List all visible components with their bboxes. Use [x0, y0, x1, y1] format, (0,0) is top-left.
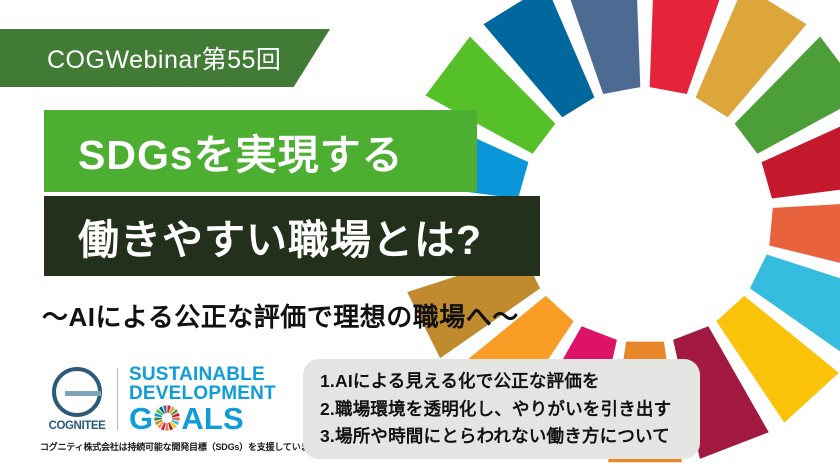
- title-block-secondary: 働きやすい職場とは?: [44, 196, 540, 276]
- sdg-color-wheel-icon-small: [154, 405, 180, 431]
- sdg-wordmark-als: ALS: [181, 403, 244, 434]
- page-title-line-1: SDGsを実現する: [78, 121, 404, 181]
- agenda-item: 3.場所や時間にとらわれない働き方について: [320, 423, 700, 451]
- logo-lockup: COGNITEE SUSTAINABLE DEVELOPMENT G ALS コ…: [40, 363, 295, 453]
- webinar-series-ribbon: COGWebinar第55回: [0, 29, 330, 87]
- sdg-wordmark: SUSTAINABLE DEVELOPMENT G ALS: [129, 365, 276, 434]
- webinar-series-label: COGWebinar第55回: [47, 40, 281, 76]
- sdg-wordmark-line-3: G ALS: [129, 403, 276, 434]
- logo-row: COGNITEE SUSTAINABLE DEVELOPMENT G ALS: [40, 363, 295, 435]
- sdg-wheel-segment: [166, 423, 169, 430]
- page-subtitle: 〜AIによる公正な評価で理想の職場へ〜: [42, 297, 519, 334]
- sdg-support-caption: コグニティ株式会社は持続可能な開発目標（SDGs）を支援しています。: [40, 440, 295, 453]
- sdg-wordmark-line-1: SUSTAINABLE: [129, 365, 276, 384]
- agenda-box: 1.AIによる見える化で公正な評価を 2.職場環境を透明化し、やりがいを引き出す…: [303, 359, 700, 459]
- sdg-wordmark-line-2: DEVELOPMENT: [129, 384, 276, 403]
- agenda-item: 2.職場環境を透明化し、やりがいを引き出す: [320, 396, 700, 424]
- logo-divider: [117, 368, 118, 430]
- cognitee-wordmark: COGNITEE: [49, 420, 106, 432]
- cognitee-bar-icon: [65, 391, 101, 396]
- webinar-title-slide: COGWebinar第55回 SDGsを実現する 働きやすい職場とは? 〜AIに…: [0, 0, 840, 473]
- title-block-primary: SDGsを実現する: [44, 110, 477, 192]
- cognitee-circle-bar-icon: [52, 367, 102, 417]
- page-title-line-2: 働きやすい職場とは?: [78, 206, 482, 266]
- agenda-item: 1.AIによる見える化で公正な評価を: [320, 368, 700, 396]
- cognitee-logo: COGNITEE: [40, 367, 114, 432]
- sdg-wordmark-g: G: [129, 403, 153, 434]
